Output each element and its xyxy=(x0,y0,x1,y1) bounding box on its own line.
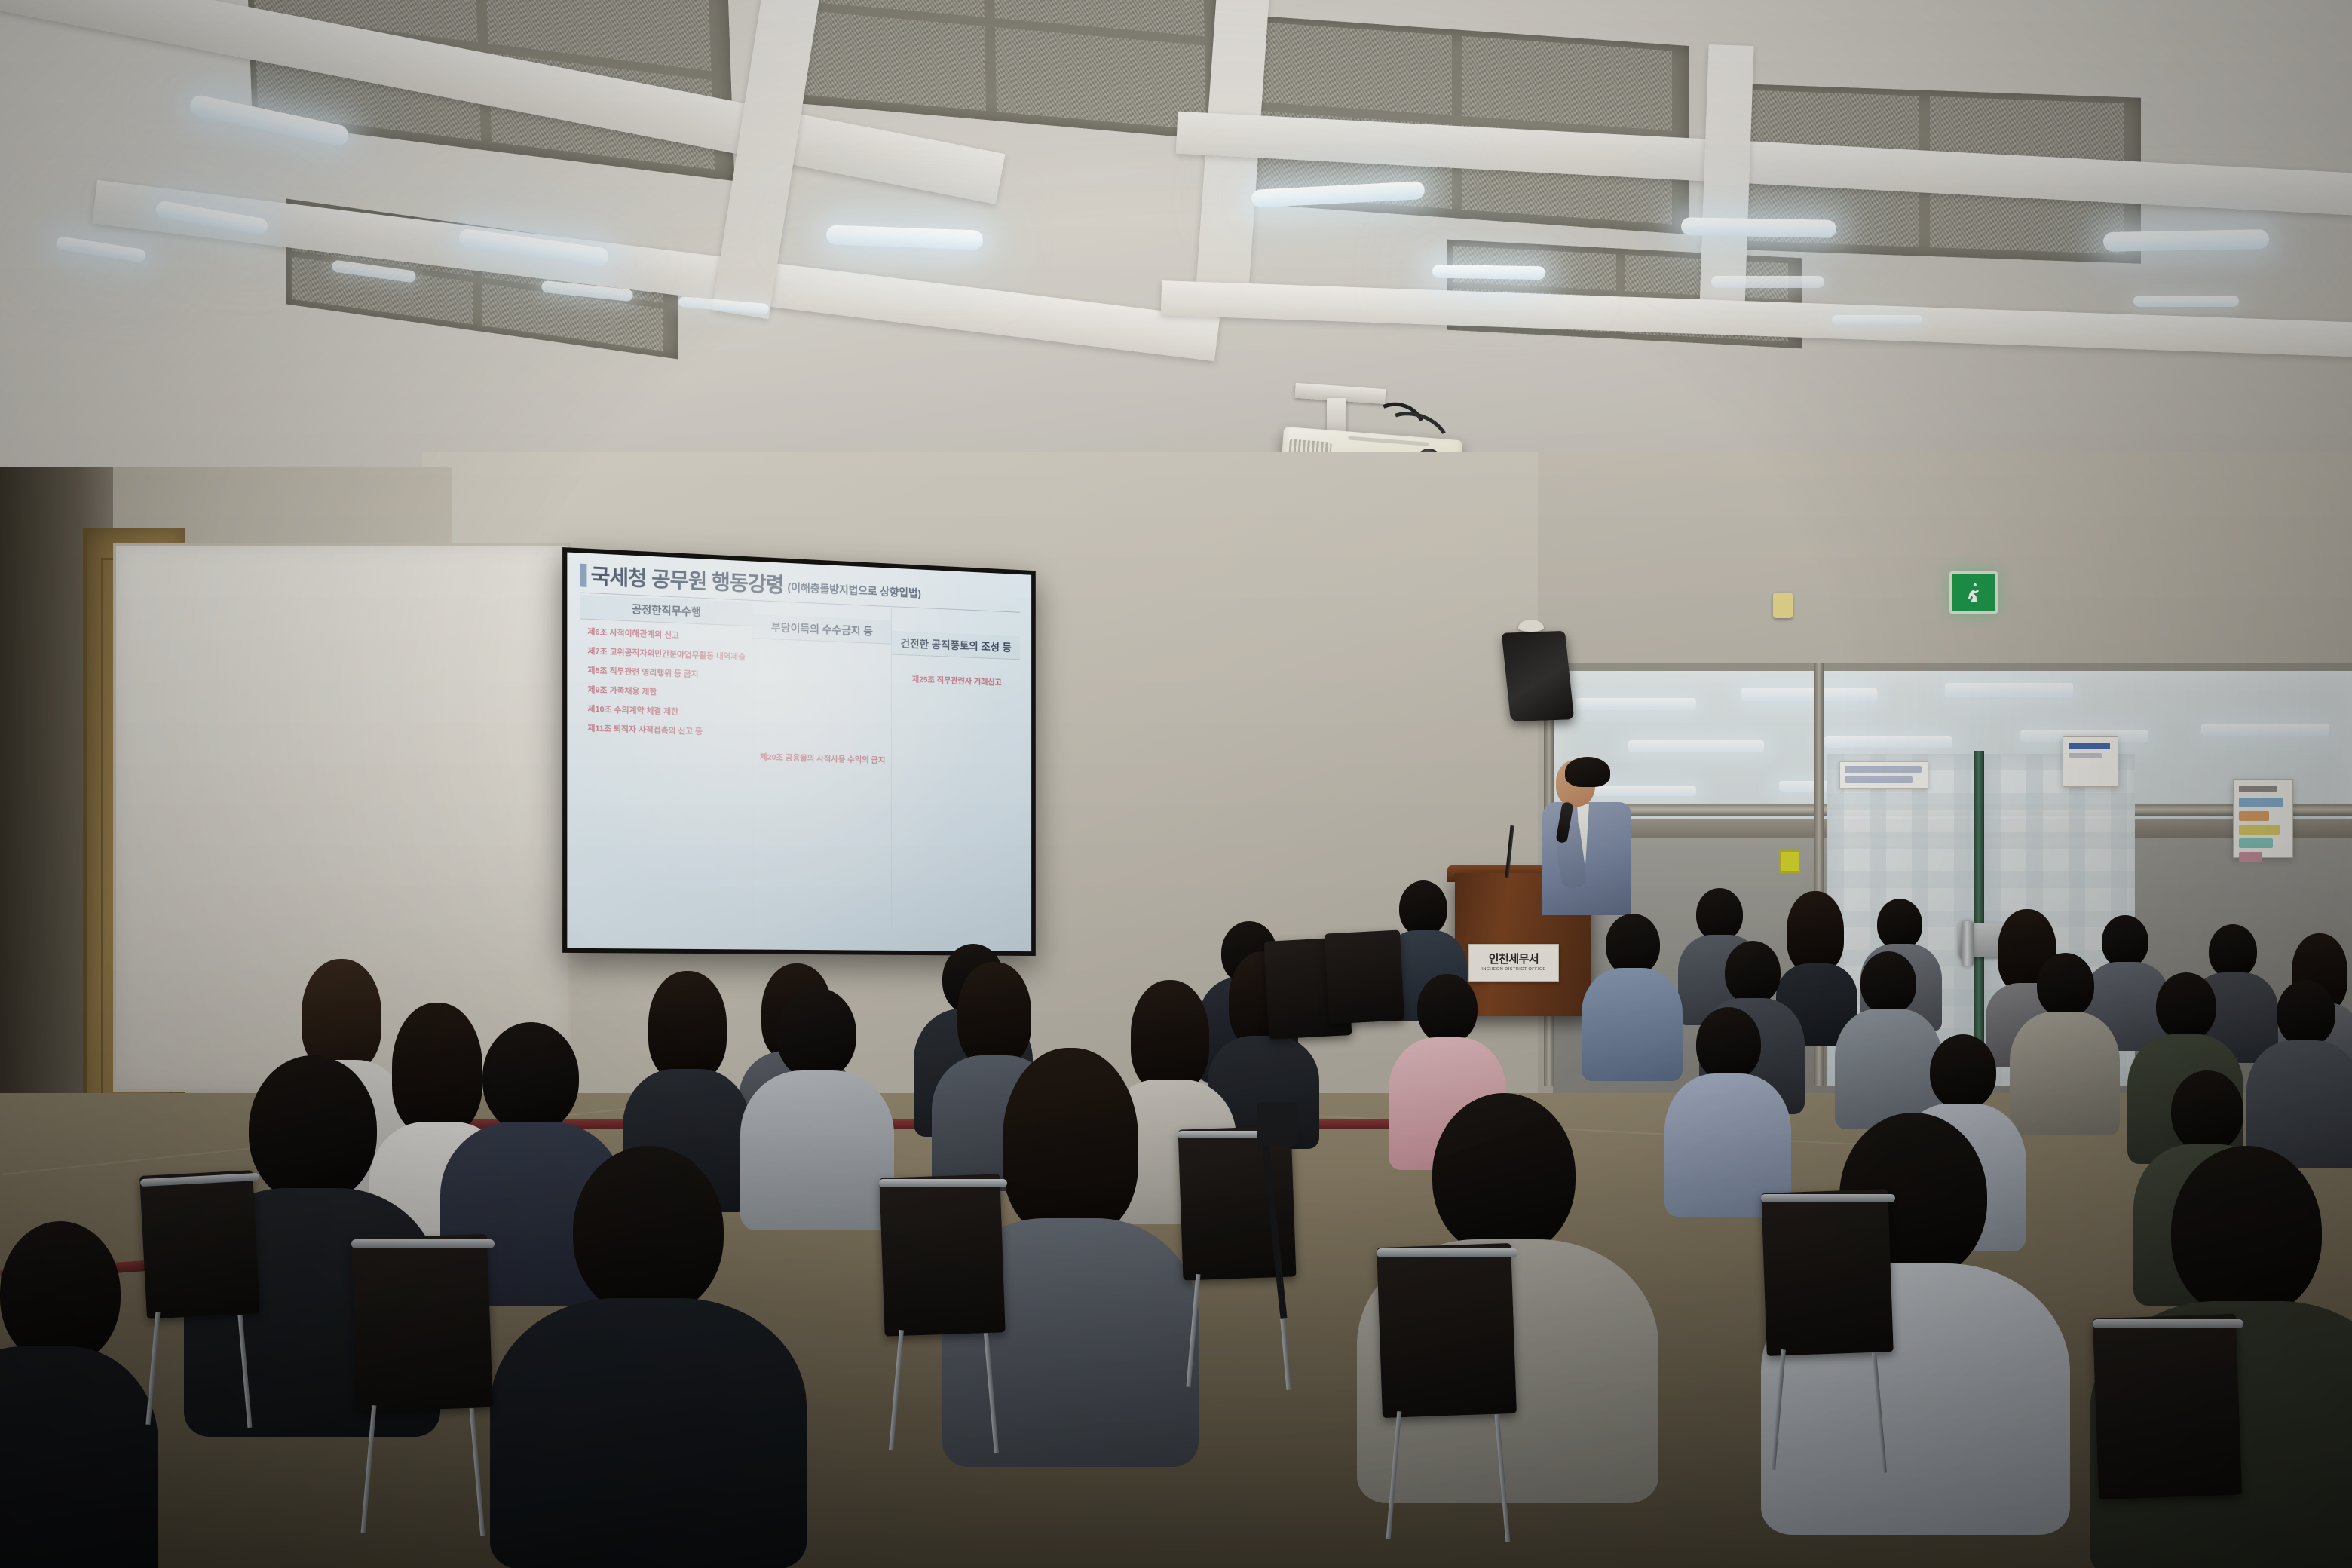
office-ceiling-light xyxy=(2201,724,2329,736)
folding-chair[interactable] xyxy=(139,1170,260,1319)
folding-chair[interactable] xyxy=(1325,929,1404,1024)
notice-line xyxy=(1845,766,1922,773)
folding-chair[interactable] xyxy=(879,1174,1005,1336)
ceiling-light xyxy=(2103,229,2269,252)
poster-title-bar xyxy=(2239,786,2277,792)
ceiling-light xyxy=(1681,217,1836,238)
audience-hair xyxy=(392,1003,482,1135)
presenter-hair xyxy=(1565,757,1610,787)
notice-line xyxy=(1845,776,1913,783)
audience-torso xyxy=(0,1346,158,1568)
audience-torso xyxy=(490,1298,807,1568)
slide-article: 제7조 고위공직자의민간분야업무활동 내역제출 xyxy=(587,647,745,662)
lectern-nameplate: 인천세무서 INCHEON DISTRICT OFFICE xyxy=(1468,944,1559,982)
fire-alarm-box xyxy=(1779,850,1800,873)
smoke-detector xyxy=(1518,620,1544,632)
camera-head xyxy=(1257,1102,1298,1146)
poster-color-bar xyxy=(2239,825,2280,835)
slide-article: 제8조 직무관련 영리행위 등 금지 xyxy=(587,666,745,681)
chair-frame xyxy=(1761,1194,1895,1202)
nameplate-korean: 인천세무서 xyxy=(1489,954,1539,965)
poster-color-bar xyxy=(2239,838,2273,848)
wall-poster xyxy=(2063,736,2118,787)
slide-article: 제10조 수의계약 체결 제한 xyxy=(587,705,745,719)
projected-slide: 국세청 공무원 행동강령 (이해충돌방지법으로 상향입법) 공정한직무수행 제6… xyxy=(567,553,1031,952)
chair-frame xyxy=(1377,1248,1518,1257)
audience-torso xyxy=(1582,968,1683,1081)
ceiling-light xyxy=(55,236,146,264)
column-items: 제25조 직무관련자 거래신고 xyxy=(892,655,1020,705)
slide-column-sound-culture: 건전한 공직풍토의 조성 등 제25조 직무관련자 거래신고 xyxy=(891,608,1020,928)
slide-article: 제9조 가족채용 제한 xyxy=(587,685,745,700)
nameplate-english: INCHEON DISTRICT OFFICE xyxy=(1481,967,1545,972)
poster-color-bar xyxy=(2239,811,2269,821)
presenter-head xyxy=(1556,760,1595,807)
chair-frame xyxy=(879,1179,1007,1187)
office-ceiling-light xyxy=(1741,688,1877,701)
emergency-exit-icon xyxy=(1949,571,1998,614)
ceiling-coffer xyxy=(767,0,1223,141)
office-ceiling-light xyxy=(1628,740,1764,752)
folding-chair[interactable] xyxy=(1377,1243,1517,1418)
ceiling-light xyxy=(1432,265,1545,280)
ceiling-sprinkler xyxy=(1773,593,1793,618)
slide-column-unfair-gain: 부당이득의 수수금지 등 제20조 공용물의 사적사용 수익의 금지 xyxy=(752,602,891,926)
slide-subtitle: (이해충돌방지법으로 상향입법) xyxy=(788,580,921,601)
slide-article: 제20조 공용물의 사적사용 수익의 금지 xyxy=(760,752,885,765)
slide-article: 제11조 퇴직자 사적접촉의 신고 등 xyxy=(587,724,745,738)
poster-color-bar xyxy=(2239,852,2262,862)
projection-screen: 국세청 공무원 행동강령 (이해충돌방지법으로 상향입법) 공정한직무수행 제6… xyxy=(562,547,1036,956)
slide-content: 국세청 공무원 행동강령 (이해충돌방지법으로 상향입법) 공정한직무수행 제6… xyxy=(567,553,1031,952)
ceiling-light xyxy=(2133,296,2239,307)
chair-frame xyxy=(351,1239,495,1248)
audience-torso xyxy=(740,1070,894,1230)
column-items: 제6조 사적이해관계의 신고 제7조 고위공직자의민간분야업무활동 내역제출 제… xyxy=(580,619,752,755)
door-handle[interactable] xyxy=(1962,921,1974,966)
door-notice-sheet xyxy=(1839,761,1928,789)
column-items: 제20조 공용물의 사적사용 수익의 금지 xyxy=(752,639,891,782)
folding-chair[interactable] xyxy=(2093,1314,2242,1499)
slide-article: 제6조 사적이해관계의 신고 xyxy=(587,627,745,643)
wall-speaker xyxy=(1502,631,1574,721)
office-ceiling-light xyxy=(1576,698,1696,710)
slide-column-fair-duty: 공정한직무수행 제6조 사적이해관계의 신고 제7조 고위공직자의민간분야업무활… xyxy=(580,595,752,926)
poster-color-bar xyxy=(2069,753,2102,758)
ceiling-light xyxy=(1711,276,1824,288)
ceiling-light xyxy=(826,225,984,250)
poster-color-bar xyxy=(2069,743,2110,749)
office-ceiling-light xyxy=(1945,683,2073,697)
slide-title: 국세청 공무원 행동강령 xyxy=(591,566,784,596)
office-ceiling-light xyxy=(1824,736,1952,748)
slide-article: 제25조 직무관련자 거래신고 xyxy=(899,675,1015,688)
poster-color-bar xyxy=(2239,798,2283,807)
seminar-room-scene: 국세청 공무원 행동강령 (이해충돌방지법으로 상향입법) 공정한직무수행 제6… xyxy=(0,0,2352,1568)
slide-columns: 공정한직무수행 제6조 사적이해관계의 신고 제7조 고위공직자의민간분야업무활… xyxy=(580,595,1020,928)
ceiling-light xyxy=(1832,315,1922,325)
chair-frame xyxy=(2093,1319,2243,1328)
wall-poster xyxy=(2233,779,2293,858)
slide-title-accent xyxy=(580,564,586,587)
presenter xyxy=(1542,760,1633,807)
folding-chair[interactable] xyxy=(351,1234,493,1412)
folding-chair[interactable] xyxy=(1761,1189,1893,1356)
audience-torso xyxy=(2010,1012,2120,1135)
